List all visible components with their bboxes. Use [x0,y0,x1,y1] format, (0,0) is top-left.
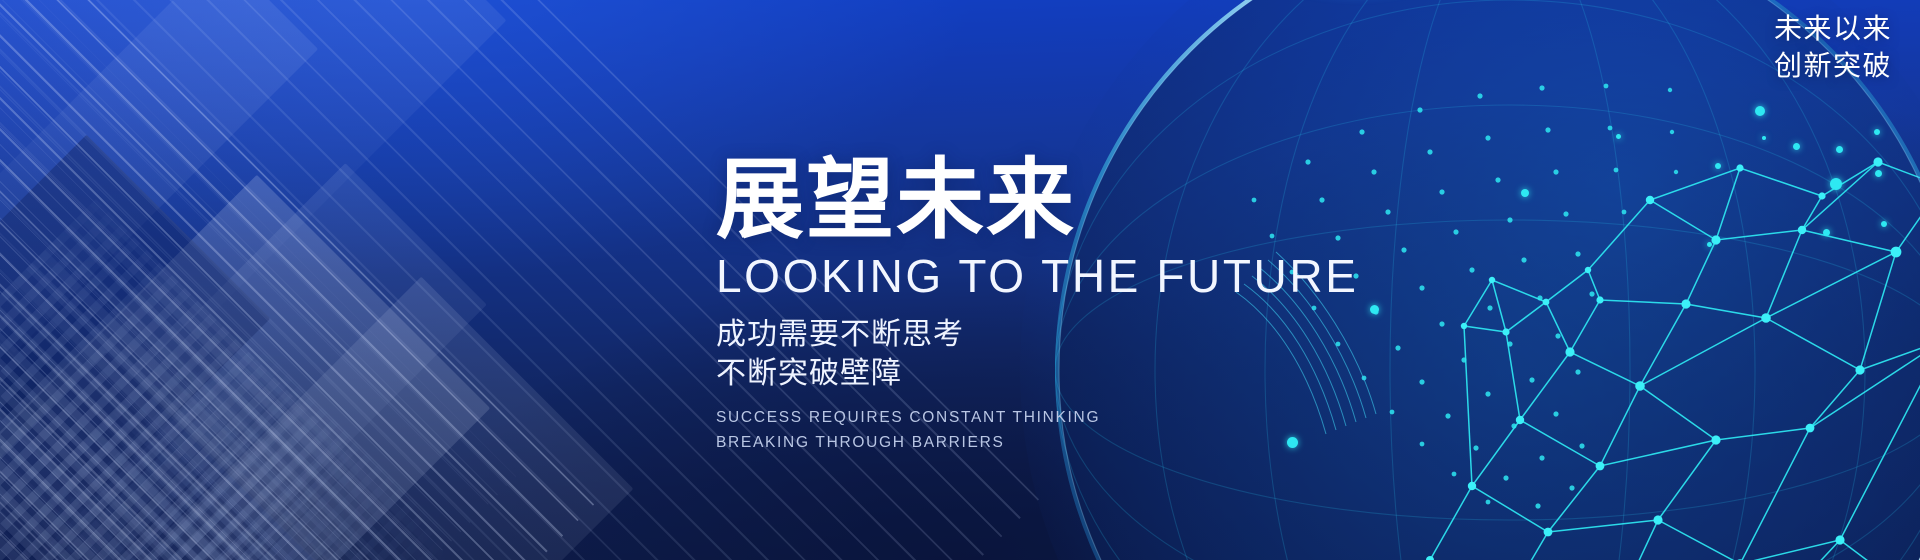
corner-tagline-line1: 未来以来 [1774,10,1892,47]
particle-dot [1881,221,1887,227]
corner-tagline-line2: 创新突破 [1774,47,1892,84]
page-title: 展望未来 [716,156,1416,244]
headline-block: 展望未来 LOOKING TO THE FUTURE 成功需要不断思考 不断突破… [716,156,1416,455]
page-subtitle-en: LOOKING TO THE FUTURE [716,252,1416,300]
particle-dot [1755,106,1765,116]
particle-dot [1762,136,1766,140]
banner-root: 未来以来 创新突破 展望未来 LOOKING TO THE FUTURE 成功需… [0,0,1920,560]
particle-dot [1823,229,1830,236]
particle-dot [1836,146,1843,153]
tagline-en-line1: SUCCESS REQUIRES CONSTANT THINKING [716,405,1416,430]
particle-dot [1521,189,1529,197]
particle-dot [1793,143,1800,150]
particle-dot [1874,129,1880,135]
particle-dot [1875,170,1882,177]
tagline-cn-line1: 成功需要不断思考 [716,316,1416,354]
particle-dot [1830,178,1842,190]
tagline-cn-line2: 不断突破壁障 [716,355,1416,393]
particle-dot [1715,163,1721,169]
tagline-en-line2: BREAKING THROUGH BARRIERS [716,430,1416,455]
particle-dot [1707,242,1712,247]
particle-dot [1616,134,1621,139]
corner-tagline: 未来以来 创新突破 [1774,10,1892,84]
